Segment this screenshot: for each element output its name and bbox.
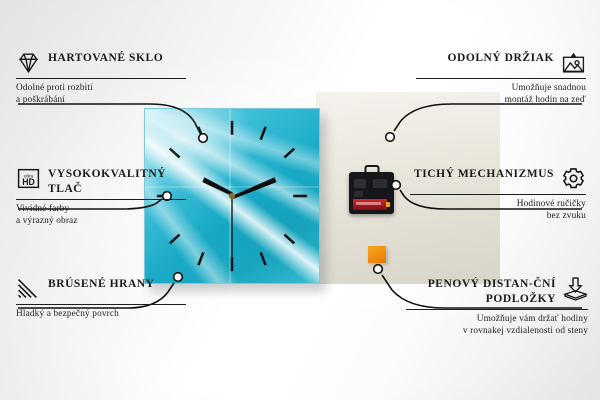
product-infographic: HARTOVANÉ SKLO Odolné proti rozbitía poš… [0, 0, 600, 400]
background-vignette [0, 0, 600, 400]
